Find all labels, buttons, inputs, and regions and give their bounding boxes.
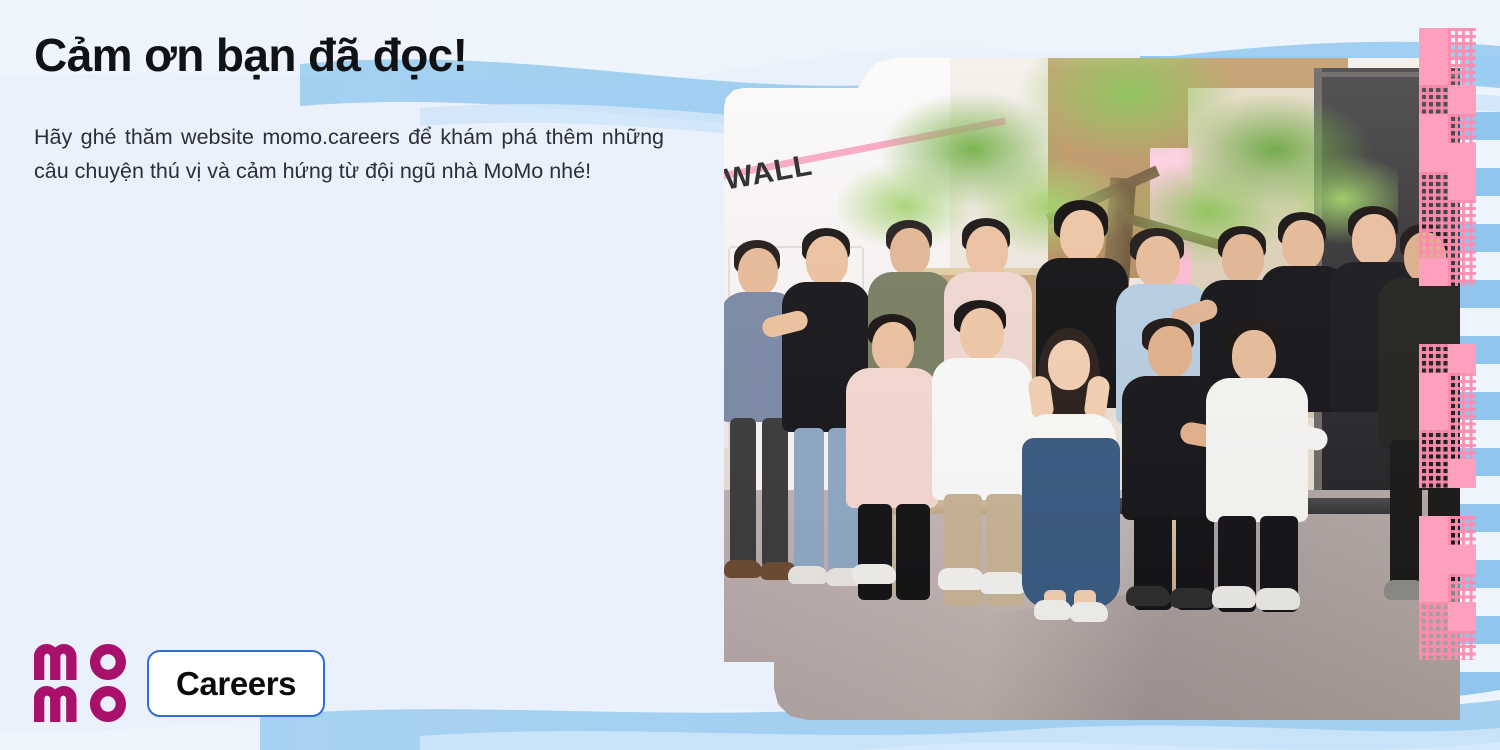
mosaic-cell	[1419, 114, 1448, 143]
pink-mosaic-decoration	[1419, 28, 1476, 660]
page-title: Cảm ơn bạn đã đọc!	[34, 30, 674, 82]
mosaic-cell	[1419, 545, 1448, 574]
mosaic-cell	[1419, 286, 1448, 315]
mosaic-cell	[1419, 516, 1448, 545]
mosaic-cell	[1419, 373, 1448, 402]
team-photo-clip: WALL	[718, 28, 1460, 720]
mosaic-cell	[1419, 574, 1448, 603]
mosaic-cell	[1419, 200, 1448, 229]
mosaic-cell	[1448, 85, 1477, 114]
careers-badge-label: Careers	[176, 667, 296, 700]
mosaic-cell	[1448, 200, 1477, 229]
mosaic-cell	[1448, 574, 1477, 603]
mosaic-cell	[1448, 114, 1477, 143]
mosaic-cell	[1419, 459, 1448, 488]
mosaic-cell	[1448, 258, 1477, 287]
mosaic-cell	[1419, 28, 1448, 57]
mosaic-cell	[1419, 172, 1448, 201]
mosaic-cell	[1448, 545, 1477, 574]
mosaic-cell	[1419, 229, 1448, 258]
mosaic-cell	[1419, 344, 1448, 373]
mosaic-cell	[1448, 229, 1477, 258]
momo-logo-icon[interactable]	[34, 644, 128, 722]
team-photo: WALL	[718, 28, 1460, 720]
mosaic-cell	[1419, 631, 1448, 660]
mosaic-cell	[1419, 85, 1448, 114]
mosaic-cell	[1448, 602, 1477, 631]
team-photo-image: WALL	[718, 28, 1460, 720]
mosaic-cell	[1448, 459, 1477, 488]
mosaic-cell	[1419, 258, 1448, 287]
mosaic-cell	[1448, 28, 1477, 57]
mosaic-cell	[1419, 401, 1448, 430]
slide-canvas: Cảm ơn bạn đã đọc! Hãy ghé thăm website …	[0, 0, 1500, 750]
mosaic-cell	[1448, 57, 1477, 86]
body-paragraph: Hãy ghé thăm website momo.careers để khá…	[34, 120, 664, 190]
mosaic-cell	[1448, 373, 1477, 402]
mosaic-cell	[1448, 488, 1477, 517]
careers-badge[interactable]: Careers	[147, 650, 325, 717]
mosaic-cell	[1448, 631, 1477, 660]
mosaic-cell	[1448, 516, 1477, 545]
brand-lockup[interactable]: Careers	[34, 644, 325, 722]
mosaic-cell	[1448, 143, 1477, 172]
text-column: Cảm ơn bạn đã đọc! Hãy ghé thăm website …	[34, 30, 674, 189]
mosaic-cell	[1419, 430, 1448, 459]
mosaic-cell	[1448, 172, 1477, 201]
mosaic-cell	[1419, 602, 1448, 631]
mosaic-cell	[1419, 315, 1448, 344]
mosaic-cell	[1448, 286, 1477, 315]
mosaic-cell	[1419, 488, 1448, 517]
photo-vignette	[718, 28, 1460, 720]
mosaic-cell	[1419, 143, 1448, 172]
mosaic-cell	[1419, 57, 1448, 86]
mosaic-cell	[1448, 401, 1477, 430]
mosaic-cell	[1448, 344, 1477, 373]
mosaic-cell	[1448, 430, 1477, 459]
mosaic-cell	[1448, 315, 1477, 344]
